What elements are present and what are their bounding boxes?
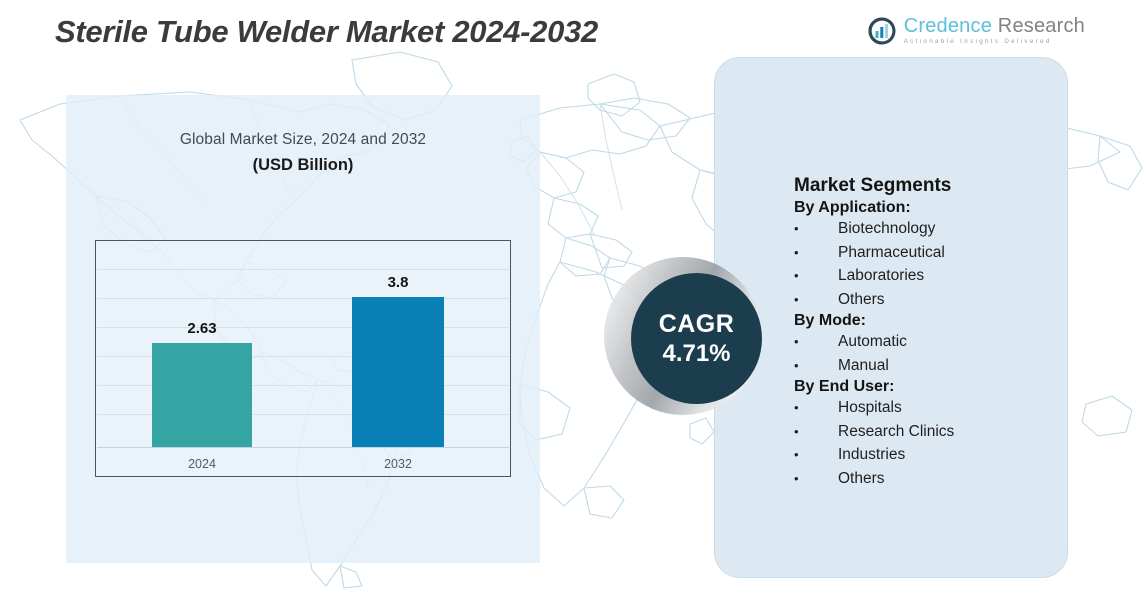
segment-list: •Automatic •Manual xyxy=(794,330,1055,377)
list-item: •Pharmaceutical xyxy=(794,241,1055,265)
segment-group-title: By Application: xyxy=(794,199,1055,217)
list-item-label: Others xyxy=(838,467,885,491)
bar-2032 xyxy=(352,297,444,447)
segment-list: •Hospitals •Research Clinics •Industries… xyxy=(794,396,1055,490)
page-title: Sterile Tube Welder Market 2024-2032 xyxy=(55,14,598,50)
segment-list: •Biotechnology •Pharmaceutical •Laborato… xyxy=(794,217,1055,311)
list-item: •Others xyxy=(794,467,1055,491)
gridline xyxy=(97,269,509,270)
bullet-icon: • xyxy=(794,422,838,442)
infographic-canvas: Sterile Tube Welder Market 2024-2032 Cre… xyxy=(0,0,1147,593)
category-label-2024: 2024 xyxy=(142,457,262,471)
list-item: •Biotechnology xyxy=(794,217,1055,241)
list-item-label: Manual xyxy=(838,354,889,378)
list-item-label: Automatic xyxy=(838,330,907,354)
brand-text: Credence Research Actionable Insights De… xyxy=(904,16,1085,45)
list-item-label: Laboratories xyxy=(838,264,924,288)
list-item-label: Others xyxy=(838,288,885,312)
bullet-icon: • xyxy=(794,290,838,310)
chart-panel: Global Market Size, 2024 and 2032 (USD B… xyxy=(66,95,540,563)
cagr-label: CAGR xyxy=(659,310,735,339)
list-item-label: Research Clinics xyxy=(838,420,954,444)
category-label-2032: 2032 xyxy=(342,457,454,471)
brand-name-part-1: Credence xyxy=(904,15,992,37)
list-item-label: Biotechnology xyxy=(838,217,935,241)
chart-subtitle-line-2: (USD Billion) xyxy=(66,156,540,175)
segment-group-application: By Application: •Biotechnology •Pharmace… xyxy=(794,199,1055,311)
chart-subtitle-line-1: Global Market Size, 2024 and 2032 xyxy=(66,131,540,149)
market-segments-panel: Market Segments By Application: •Biotech… xyxy=(714,57,1068,578)
brand-tagline: Actionable Insights Delivered xyxy=(904,39,1085,45)
bar-chart-plot-area: 2.63 3.8 2024 2032 xyxy=(95,240,511,477)
segment-group-mode: By Mode: •Automatic •Manual xyxy=(794,312,1055,377)
brand-name-part-2: Research xyxy=(998,15,1085,37)
list-item-label: Pharmaceutical xyxy=(838,241,945,265)
bullet-icon: • xyxy=(794,219,838,239)
list-item: •Hospitals xyxy=(794,396,1055,420)
bar-2024 xyxy=(152,343,252,447)
list-item-label: Hospitals xyxy=(838,396,902,420)
bullet-icon: • xyxy=(794,266,838,286)
brand-logo[interactable]: Credence Research Actionable Insights De… xyxy=(867,16,1085,46)
bullet-icon: • xyxy=(794,398,838,418)
brand-name: Credence Research xyxy=(904,16,1085,36)
bullet-icon: • xyxy=(794,445,838,465)
cagr-value: 4.71% xyxy=(662,340,730,368)
segment-group-end-user: By End User: •Hospitals •Research Clinic… xyxy=(794,378,1055,490)
segment-group-title: By Mode: xyxy=(794,312,1055,330)
segment-group-title: By End User: xyxy=(794,378,1055,396)
bullet-icon: • xyxy=(794,243,838,263)
list-item: •Manual xyxy=(794,354,1055,378)
axis-baseline xyxy=(97,447,509,448)
cagr-badge: CAGR 4.71% xyxy=(631,273,762,404)
list-item: •Automatic xyxy=(794,330,1055,354)
list-item: •Industries xyxy=(794,443,1055,467)
list-item: •Research Clinics xyxy=(794,420,1055,444)
bar-chart-circle-logo-icon xyxy=(867,16,897,46)
list-item: •Laboratories xyxy=(794,264,1055,288)
gridline xyxy=(97,298,509,299)
cagr-circle: CAGR 4.71% xyxy=(631,273,762,404)
list-item: •Others xyxy=(794,288,1055,312)
bullet-icon: • xyxy=(794,332,838,352)
bar-value-label-2024: 2.63 xyxy=(152,320,252,337)
chart-heading: Global Market Size, 2024 and 2032 (USD B… xyxy=(66,131,540,175)
bar-value-label-2032: 3.8 xyxy=(352,274,444,291)
bullet-icon: • xyxy=(794,356,838,376)
list-item-label: Industries xyxy=(838,443,905,467)
market-segments-content: Market Segments By Application: •Biotech… xyxy=(794,175,1055,490)
bullet-icon: • xyxy=(794,469,838,489)
market-segments-title: Market Segments xyxy=(794,175,1055,197)
